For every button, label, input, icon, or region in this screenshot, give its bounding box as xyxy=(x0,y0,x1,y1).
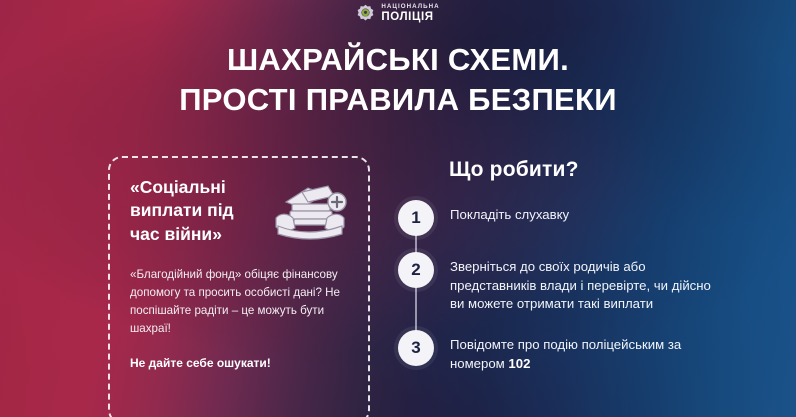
step-text-main: Зверніться до своїх родичів або представ… xyxy=(450,259,711,311)
what-to-do-section: Що робити? 1 Покладіть слухавку 2 Зверні… xyxy=(398,158,728,374)
police-badge-icon xyxy=(356,4,375,23)
step-number-badge: 3 xyxy=(398,330,434,366)
step-number-badge: 2 xyxy=(398,252,434,288)
step-number-badge: 1 xyxy=(398,200,434,236)
card-title: «Соціальні виплати під час війни» xyxy=(130,176,266,246)
card-warning-text: Не дайте себе ошукати! xyxy=(130,356,348,370)
page-title: ШАХРАЙСЬКІ СХЕМИ. ПРОСТІ ПРАВИЛА БЕЗПЕКИ xyxy=(0,40,796,120)
logo-line-1: НАЦІОНАЛЬНА xyxy=(381,4,439,10)
title-line-2: ПРОСТІ ПРАВИЛА БЕЗПЕКИ xyxy=(0,80,796,120)
card-header: «Соціальні виплати під час війни» xyxy=(130,176,348,246)
card-body-text: «Благодійний фонд» обіцяє фінансову допо… xyxy=(130,266,348,338)
national-police-logo: НАЦІОНАЛЬНА ПОЛІЦІЯ xyxy=(356,4,439,23)
header-logo-bar: НАЦІОНАЛЬНА ПОЛІЦІЯ xyxy=(0,0,796,28)
title-line-1: ШАХРАЙСЬКІ СХЕМИ. xyxy=(0,40,796,80)
step-text: Зверніться до своїх родичів або представ… xyxy=(450,252,718,314)
step-item: 1 Покладіть слухавку xyxy=(398,200,728,236)
steps-section-title: Що робити? xyxy=(449,158,728,182)
step-item: 3 Повідомте про подію поліцейським за но… xyxy=(398,330,728,373)
step-text: Покладіть слухавку xyxy=(450,200,569,225)
step-text-bold: 102 xyxy=(508,356,530,371)
logo-line-2: ПОЛІЦІЯ xyxy=(381,12,439,24)
step-text: Повідомте про подію поліцейським за номе… xyxy=(450,330,718,373)
hands-holding-money-plus-icon xyxy=(272,180,348,242)
step-text-main: Повідомте про подію поліцейським за номе… xyxy=(450,337,681,371)
poster-root: НАЦІОНАЛЬНА ПОЛІЦІЯ ШАХРАЙСЬКІ СХЕМИ. ПР… xyxy=(0,0,796,417)
step-item: 2 Зверніться до своїх родичів або предст… xyxy=(398,252,728,314)
steps-list: 1 Покладіть слухавку 2 Зверніться до сво… xyxy=(398,200,728,374)
logo-wordmark: НАЦІОНАЛЬНА ПОЛІЦІЯ xyxy=(381,4,439,23)
scam-scheme-card: «Соціальні виплати під час війни» xyxy=(108,156,370,417)
step-text-main: Покладіть слухавку xyxy=(450,207,569,222)
